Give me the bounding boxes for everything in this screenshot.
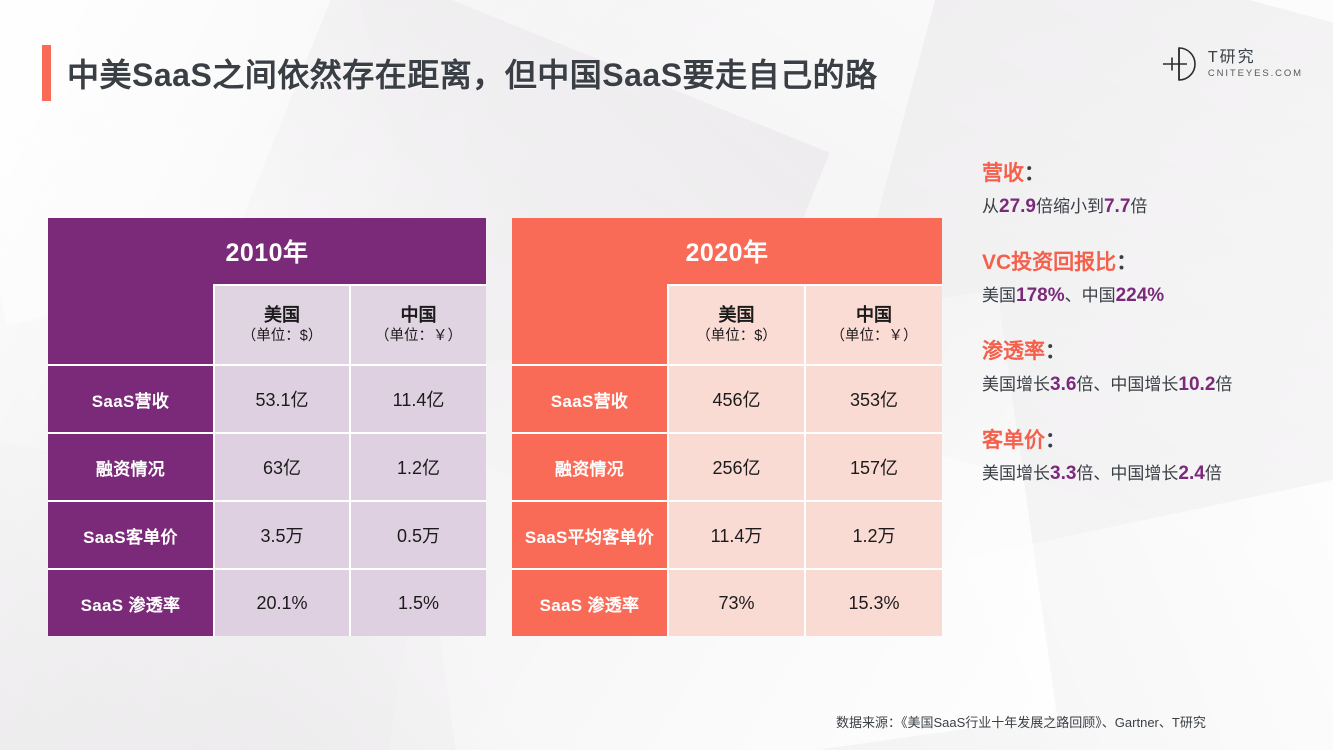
column-header-us-unit: （单位：$） bbox=[215, 327, 349, 347]
table-row: SaaS营收 53.1亿 11.4亿 bbox=[48, 364, 486, 432]
cell-cn: 15.3% bbox=[804, 568, 942, 636]
insight-heading: VC投资回报比： bbox=[982, 249, 1312, 277]
insight-heading: 渗透率： bbox=[982, 338, 1312, 366]
cell-us: 63亿 bbox=[213, 432, 349, 500]
cell-cn: 157亿 bbox=[804, 432, 942, 500]
column-header-us-name: 美国 bbox=[215, 303, 349, 327]
brand-logo: T研究 CNITEYES.COM bbox=[1159, 44, 1303, 84]
logo-wordmark: T研究 CNITEYES.COM bbox=[1208, 49, 1303, 80]
insight-value-2: 10.2 bbox=[1178, 374, 1215, 395]
cell-us: 456亿 bbox=[667, 364, 804, 432]
cell-cn: 353亿 bbox=[804, 364, 942, 432]
column-header-us: 美国 （单位：$） bbox=[667, 284, 804, 364]
cell-cn: 1.2亿 bbox=[349, 432, 486, 500]
row-label: SaaS营收 bbox=[512, 364, 667, 432]
column-header-cn-name: 中国 bbox=[806, 303, 942, 327]
insight-heading-colon: ： bbox=[1045, 429, 1066, 452]
row-label: 融资情况 bbox=[512, 432, 667, 500]
column-header-us-unit: （单位：$） bbox=[669, 327, 804, 347]
cell-us: 256亿 bbox=[667, 432, 804, 500]
table-caption: 2020年 bbox=[512, 218, 942, 284]
insight-suffix: 倍 bbox=[1205, 464, 1222, 483]
data-source-footnote: 数据来源：《美国SaaS行业十年发展之路回顾》、Gartner、T研究 bbox=[836, 712, 1206, 731]
insight-value-1: 178% bbox=[1016, 285, 1065, 306]
insight-suffix: 倍 bbox=[1215, 375, 1232, 394]
column-header-us: 美国 （单位：$） bbox=[213, 284, 349, 364]
insight-value-1: 27.9 bbox=[999, 196, 1036, 217]
slide-canvas: 中美SaaS之间依然存在距离，但中国SaaS要走自己的路 T研究 CNITEYE… bbox=[0, 0, 1333, 750]
insight-heading-text: 渗透率 bbox=[982, 340, 1045, 363]
title-accent-bar bbox=[42, 45, 51, 101]
insight-heading: 营收： bbox=[982, 160, 1312, 188]
insight-mid: 、中国 bbox=[1065, 286, 1116, 305]
insight-body: 美国增长3.3倍、中国增长2.4倍 bbox=[982, 461, 1312, 488]
row-label: SaaS客单价 bbox=[48, 500, 213, 568]
cell-us: 20.1% bbox=[213, 568, 349, 636]
table-2020: 2020年 美国 （单位：$） 中国 （单位：￥） SaaS营收 456亿 35… bbox=[512, 218, 942, 636]
insight-heading-colon: ： bbox=[1024, 162, 1045, 185]
column-header-cn: 中国 （单位：￥） bbox=[349, 284, 486, 364]
row-label: SaaS营收 bbox=[48, 364, 213, 432]
insight-body: 美国增长3.6倍、中国增长10.2倍 bbox=[982, 372, 1312, 399]
table-title-row: 2010年 bbox=[48, 218, 486, 284]
table-row: SaaS营收 456亿 353亿 bbox=[512, 364, 942, 432]
insight-value-2: 224% bbox=[1116, 285, 1165, 306]
page-title: 中美SaaS之间依然存在距离，但中国SaaS要走自己的路 bbox=[67, 50, 878, 96]
row-label: 融资情况 bbox=[48, 432, 213, 500]
cell-us: 11.4万 bbox=[667, 500, 804, 568]
table-row: 融资情况 256亿 157亿 bbox=[512, 432, 942, 500]
insight-heading-text: 客单价 bbox=[982, 429, 1045, 452]
table-2010: 2010年 美国 （单位：$） 中国 （单位：￥） SaaS营收 53.1亿 1… bbox=[48, 218, 486, 636]
insights-panel: 营收： 从27.9倍缩小到7.7倍 VC投资回报比： 美国178%、中国224%… bbox=[982, 160, 1312, 488]
cell-cn: 11.4亿 bbox=[349, 364, 486, 432]
cniteyes-half-disc-crosshair-icon bbox=[1159, 44, 1199, 84]
cell-us: 73% bbox=[667, 568, 804, 636]
insight-arpu: 客单价： 美国增长3.3倍、中国增长2.4倍 bbox=[982, 427, 1312, 488]
insight-prefix: 美国 bbox=[982, 286, 1016, 305]
background-facet bbox=[874, 469, 1333, 750]
column-header-cn-unit: （单位：￥） bbox=[806, 327, 942, 347]
insight-prefix: 美国增长 bbox=[982, 464, 1050, 483]
cell-us: 53.1亿 bbox=[213, 364, 349, 432]
cell-cn: 0.5万 bbox=[349, 500, 486, 568]
insight-value-2: 7.7 bbox=[1104, 196, 1130, 217]
table-title-row: 2020年 bbox=[512, 218, 942, 284]
insight-revenue: 营收： 从27.9倍缩小到7.7倍 bbox=[982, 160, 1312, 221]
insight-vc-return: VC投资回报比： 美国178%、中国224% bbox=[982, 249, 1312, 310]
insight-mid: 倍、中国增长 bbox=[1076, 375, 1178, 394]
column-header-cn-unit: （单位：￥） bbox=[351, 327, 486, 347]
column-header-us-name: 美国 bbox=[669, 303, 804, 327]
insight-heading: 客单价： bbox=[982, 427, 1312, 455]
logo-cn-text: T研究 bbox=[1208, 49, 1303, 67]
insight-suffix: 倍 bbox=[1130, 197, 1147, 216]
column-header-cn-name: 中国 bbox=[351, 303, 486, 327]
column-header-cn: 中国 （单位：￥） bbox=[804, 284, 942, 364]
table-row: SaaS 渗透率 73% 15.3% bbox=[512, 568, 942, 636]
cell-cn: 1.5% bbox=[349, 568, 486, 636]
insight-heading-text: 营收 bbox=[982, 162, 1024, 185]
insight-heading-text: VC投资回报比 bbox=[982, 251, 1116, 274]
insight-prefix: 美国增长 bbox=[982, 375, 1050, 394]
insight-mid: 倍缩小到 bbox=[1036, 197, 1104, 216]
table-row: SaaS平均客单价 11.4万 1.2万 bbox=[512, 500, 942, 568]
insight-prefix: 从 bbox=[982, 197, 999, 216]
insight-heading-colon: ： bbox=[1045, 340, 1066, 363]
insight-heading-colon: ： bbox=[1116, 251, 1137, 274]
page-header: 中美SaaS之间依然存在距离，但中国SaaS要走自己的路 bbox=[42, 45, 878, 101]
logo-en-text: CNITEYES.COM bbox=[1208, 68, 1303, 79]
insight-body: 从27.9倍缩小到7.7倍 bbox=[982, 194, 1312, 221]
insight-body: 美国178%、中国224% bbox=[982, 283, 1312, 310]
insight-value-1: 3.3 bbox=[1050, 463, 1076, 484]
table-corner-cell bbox=[512, 284, 667, 364]
cell-cn: 1.2万 bbox=[804, 500, 942, 568]
row-label: SaaS平均客单价 bbox=[512, 500, 667, 568]
table-row: SaaS客单价 3.5万 0.5万 bbox=[48, 500, 486, 568]
insight-value-1: 3.6 bbox=[1050, 374, 1076, 395]
table-header-row: 美国 （单位：$） 中国 （单位：￥） bbox=[48, 284, 486, 364]
insight-mid: 倍、中国增长 bbox=[1076, 464, 1178, 483]
table-row: SaaS 渗透率 20.1% 1.5% bbox=[48, 568, 486, 636]
table-caption: 2010年 bbox=[48, 218, 486, 284]
table-corner-cell bbox=[48, 284, 213, 364]
row-label: SaaS 渗透率 bbox=[512, 568, 667, 636]
insight-value-2: 2.4 bbox=[1178, 463, 1204, 484]
row-label: SaaS 渗透率 bbox=[48, 568, 213, 636]
table-row: 融资情况 63亿 1.2亿 bbox=[48, 432, 486, 500]
table-header-row: 美国 （单位：$） 中国 （单位：￥） bbox=[512, 284, 942, 364]
cell-us: 3.5万 bbox=[213, 500, 349, 568]
insight-penetration: 渗透率： 美国增长3.6倍、中国增长10.2倍 bbox=[982, 338, 1312, 399]
